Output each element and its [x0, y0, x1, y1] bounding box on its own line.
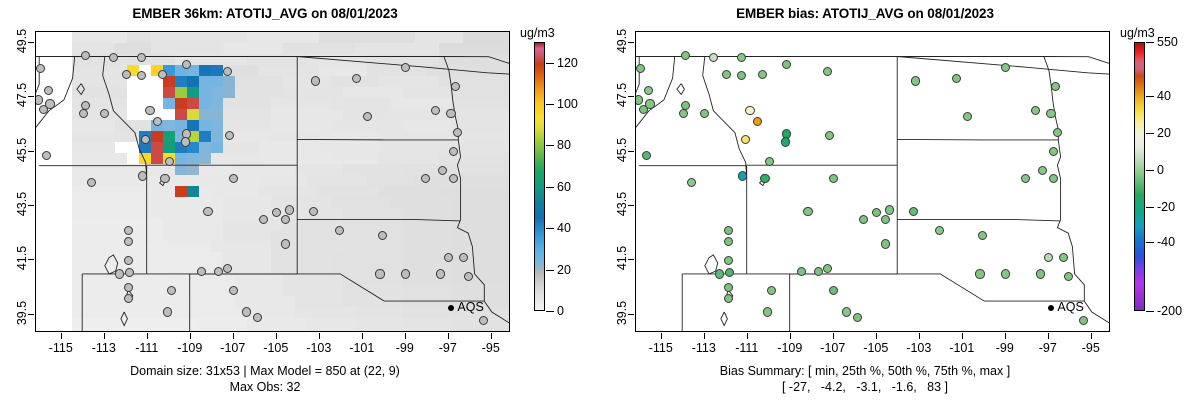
colorbar-tick-label: -40 [1157, 235, 1175, 249]
observation-site-marker[interactable] [767, 286, 776, 295]
y-axis-tick-label: 45.5 [592, 143, 652, 159]
observation-site-marker[interactable] [163, 307, 172, 316]
x-axis-tick-label: -101 [939, 341, 985, 355]
colorbar-tick [1146, 96, 1154, 97]
observation-site-marker[interactable] [797, 267, 806, 276]
observation-site-marker[interactable] [963, 112, 972, 121]
observation-site-marker[interactable] [375, 269, 384, 278]
panel-model-title: EMBER 36km: ATOTIJ_AVG on 08/01/2023 [0, 6, 530, 21]
colorbar-tick [1146, 42, 1154, 43]
x-axis-tick [147, 333, 148, 339]
observation-site-marker[interactable] [253, 313, 262, 322]
observation-site-marker[interactable] [1064, 272, 1073, 281]
bias-map-canvas: AQS [636, 32, 1109, 331]
observation-site-marker[interactable] [464, 272, 473, 281]
observation-site-marker[interactable] [1053, 128, 1062, 137]
x-axis-tick [233, 333, 234, 339]
colorbar-tick [546, 187, 554, 188]
observation-site-marker[interactable] [881, 215, 890, 224]
x-axis-tick-label: -103 [896, 341, 942, 355]
x-axis-tick [405, 333, 406, 339]
y-axis-tick-label: 47.5 [0, 88, 52, 104]
x-axis-tick [190, 333, 191, 339]
colorbar-tick-label: 20 [557, 263, 571, 277]
observation-site-marker[interactable] [138, 171, 147, 180]
x-axis-tick-label: -113 [81, 341, 127, 355]
observation-site-marker[interactable] [853, 313, 862, 322]
x-axis-tick-label: -111 [724, 341, 770, 355]
colorbar-tick-label: 60 [557, 180, 571, 194]
observation-site-marker[interactable] [225, 131, 234, 140]
panel-model-plot-frame: AQS [35, 31, 510, 332]
observation-site-marker[interactable] [167, 286, 176, 295]
bias-caption-line2: [ -27, -4.2, -3.1, -1.6, 83 ] [600, 380, 1130, 394]
observation-site-marker[interactable] [449, 174, 458, 183]
observation-site-marker[interactable] [401, 269, 410, 278]
observation-site-marker[interactable] [814, 267, 823, 276]
observation-site-marker[interactable] [124, 283, 133, 292]
observation-site-marker[interactable] [911, 76, 920, 85]
observation-site-marker[interactable] [352, 74, 361, 83]
x-axis-tick-label: -113 [681, 341, 727, 355]
x-axis-tick-label: -115 [638, 341, 684, 355]
observation-site-marker[interactable] [935, 226, 944, 235]
x-axis-tick [1091, 333, 1092, 339]
observation-site-marker[interactable] [281, 239, 290, 248]
figure-root: EMBER 36km: ATOTIJ_AVG on 08/01/2023 AQS… [0, 0, 1200, 409]
colorbar-tick-label: -200 [1157, 304, 1182, 318]
observation-site-marker[interactable] [223, 67, 232, 76]
aqs-legend-dot [448, 305, 454, 311]
observation-site-marker[interactable] [681, 101, 690, 110]
observation-site-marker[interactable] [115, 269, 124, 278]
y-axis-tick-label: 49.5 [592, 34, 652, 50]
observation-site-marker[interactable] [124, 294, 133, 303]
observation-site-marker[interactable] [724, 283, 733, 292]
x-axis-tick-label: -105 [853, 341, 899, 355]
observation-site-marker[interactable] [1051, 82, 1060, 91]
x-axis-tick-label: -105 [253, 341, 299, 355]
observation-site-marker[interactable] [145, 106, 154, 115]
observation-site-marker[interactable] [335, 226, 344, 235]
colorbar-tick [1146, 311, 1154, 312]
colorbar-tick-label: 20 [1157, 126, 1171, 140]
observation-site-marker[interactable] [242, 307, 251, 316]
x-axis-tick-label: -99 [382, 341, 428, 355]
observation-site-marker[interactable] [885, 205, 894, 214]
observation-site-marker[interactable] [724, 294, 733, 303]
colorbar-tick-label: 0 [557, 304, 564, 318]
observation-site-marker[interactable] [825, 131, 834, 140]
colorbar-tick-label: -20 [1157, 200, 1175, 214]
observation-site-marker[interactable] [197, 267, 206, 276]
observation-site-marker[interactable] [421, 174, 430, 183]
state-borders [636, 32, 1109, 331]
x-axis-tick-label: -95 [1068, 341, 1114, 355]
y-axis-tick-label: 39.5 [592, 306, 652, 322]
observation-site-marker[interactable] [763, 307, 772, 316]
observation-site-marker[interactable] [781, 137, 790, 146]
bias-caption-line1: Bias Summary: [ min, 25th %, 50th %, 75t… [600, 364, 1130, 378]
x-axis-tick [61, 333, 62, 339]
observation-site-marker[interactable] [479, 316, 488, 325]
observation-site-marker[interactable] [446, 109, 455, 118]
x-axis-tick-label: -107 [810, 341, 856, 355]
bias-colorbar-unit: ug/m3 [1120, 26, 1155, 40]
colorbar-tick [1146, 207, 1154, 208]
observation-site-marker[interactable] [285, 205, 294, 214]
colorbar-tick-label: 40 [1157, 89, 1171, 103]
colorbar-tick [1146, 133, 1154, 134]
observation-site-marker[interactable] [681, 51, 690, 60]
x-axis-tick-label: -115 [38, 341, 84, 355]
observation-site-marker[interactable] [79, 109, 88, 118]
observation-site-marker[interactable] [765, 157, 774, 166]
x-axis-tick-label: -97 [425, 341, 471, 355]
observation-site-marker[interactable] [449, 147, 458, 156]
observation-site-marker[interactable] [203, 207, 212, 216]
aqs-legend-label: AQS [1057, 300, 1083, 314]
model-colorbar-unit: ug/m3 [520, 26, 555, 40]
observation-site-marker[interactable] [737, 71, 746, 80]
x-axis-tick [319, 333, 320, 339]
observation-site-marker[interactable] [975, 269, 984, 278]
observation-site-marker[interactable] [1049, 147, 1058, 156]
state-borders [36, 32, 509, 331]
observation-site-marker[interactable] [137, 71, 146, 80]
x-axis-tick-label: -103 [296, 341, 342, 355]
y-axis-tick-label: 41.5 [592, 251, 652, 267]
model-caption-line1: Domain size: 31x53 | Max Model = 850 at … [0, 364, 530, 378]
observation-site-marker[interactable] [724, 256, 733, 265]
observation-site-marker[interactable] [823, 67, 832, 76]
x-axis-tick-label: -101 [339, 341, 385, 355]
observation-site-marker[interactable] [881, 239, 890, 248]
observation-site-marker[interactable] [909, 207, 918, 216]
observation-site-marker[interactable] [124, 226, 133, 235]
colorbar-tick-label: 100 [557, 97, 578, 111]
colorbar-tick-label: 550 [1157, 35, 1178, 49]
x-axis-tick-label: -95 [468, 341, 514, 355]
observation-site-marker[interactable] [309, 207, 318, 216]
x-axis-tick [104, 333, 105, 339]
observation-site-marker[interactable] [724, 226, 733, 235]
observation-site-marker[interactable] [363, 112, 372, 121]
observation-site-marker[interactable] [122, 70, 131, 79]
colorbar-tick [546, 145, 554, 146]
observation-site-marker[interactable] [952, 74, 961, 83]
observation-site-marker[interactable] [281, 215, 290, 224]
x-axis-tick [790, 333, 791, 339]
x-axis-tick [448, 333, 449, 339]
x-axis-tick-label: -111 [124, 341, 170, 355]
x-axis-tick [876, 333, 877, 339]
x-axis-tick [919, 333, 920, 339]
panel-bias-title: EMBER bias: ATOTIJ_AVG on 08/01/2023 [600, 6, 1130, 21]
x-axis-tick-label: -109 [167, 341, 213, 355]
aqs-legend-dot [1048, 305, 1054, 311]
x-axis-tick-label: -107 [210, 341, 256, 355]
colorbar-tick-label: 80 [557, 138, 571, 152]
y-axis-tick-label: 39.5 [0, 306, 52, 322]
y-axis-tick-label: 47.5 [592, 88, 652, 104]
observation-site-marker[interactable] [760, 174, 769, 183]
observation-site-marker[interactable] [160, 174, 169, 183]
colorbar-tick-label: 40 [557, 221, 571, 235]
observation-site-marker[interactable] [715, 269, 724, 278]
observation-site-marker[interactable] [724, 237, 733, 246]
observation-site-marker[interactable] [436, 269, 445, 278]
x-axis-tick [962, 333, 963, 339]
observation-site-marker[interactable] [451, 82, 460, 91]
observation-site-marker[interactable] [453, 128, 462, 137]
colorbar-tick [546, 311, 554, 312]
x-axis-tick [747, 333, 748, 339]
x-axis-tick-label: -109 [767, 341, 813, 355]
observation-site-marker[interactable] [745, 106, 754, 115]
colorbar-tick [546, 270, 554, 271]
colorbar-tick [1146, 242, 1154, 243]
colorbar-tick-label: 0 [1157, 163, 1164, 177]
model-caption-line2: Max Obs: 32 [0, 380, 530, 394]
panel-model: EMBER 36km: ATOTIJ_AVG on 08/01/2023 AQS… [0, 0, 600, 409]
observation-site-marker[interactable] [311, 76, 320, 85]
x-axis-tick-label: -99 [982, 341, 1028, 355]
observation-site-marker[interactable] [842, 307, 851, 316]
x-axis-tick [833, 333, 834, 339]
observation-site-marker[interactable] [679, 109, 688, 118]
observation-site-marker[interactable] [823, 264, 832, 273]
y-axis-tick-label: 49.5 [0, 34, 52, 50]
y-axis-tick-label: 45.5 [0, 143, 52, 159]
observation-site-marker[interactable] [1046, 109, 1055, 118]
observation-site-marker[interactable] [223, 264, 232, 273]
x-axis-tick [1048, 333, 1049, 339]
observation-site-marker[interactable] [181, 137, 190, 146]
x-axis-tick [362, 333, 363, 339]
aqs-legend-label: AQS [457, 300, 483, 314]
x-axis-tick [1005, 333, 1006, 339]
observation-site-marker[interactable] [1021, 174, 1030, 183]
observation-site-marker[interactable] [1001, 269, 1010, 278]
observation-site-marker[interactable] [1079, 316, 1088, 325]
model-colorbar[interactable] [534, 42, 545, 311]
observation-site-marker[interactable] [803, 207, 812, 216]
model-map-canvas: AQS [36, 32, 509, 331]
colorbar-tick [546, 228, 554, 229]
y-axis-tick-label: 43.5 [0, 197, 52, 213]
x-axis-tick [491, 333, 492, 339]
colorbar-tick-label: 120 [557, 56, 578, 70]
panel-bias: EMBER bias: ATOTIJ_AVG on 08/01/2023 AQS… [600, 0, 1200, 409]
observation-site-marker[interactable] [214, 267, 223, 276]
panel-bias-plot-frame: AQS [635, 31, 1110, 332]
observation-site-marker[interactable] [1049, 174, 1058, 183]
x-axis-tick [276, 333, 277, 339]
colorbar-tick [546, 63, 554, 64]
y-axis-tick-label: 43.5 [592, 197, 652, 213]
colorbar-tick [546, 104, 554, 105]
observation-site-marker[interactable] [124, 256, 133, 265]
x-axis-tick [661, 333, 662, 339]
x-axis-tick-label: -97 [1025, 341, 1071, 355]
x-axis-tick [704, 333, 705, 339]
colorbar-tick [1146, 170, 1154, 171]
observation-site-marker[interactable] [738, 171, 747, 180]
observation-site-marker[interactable] [722, 70, 731, 79]
y-axis-tick-label: 41.5 [0, 251, 52, 267]
observation-site-marker[interactable] [81, 51, 90, 60]
observation-site-marker[interactable] [81, 101, 90, 110]
observation-site-marker[interactable] [165, 157, 174, 166]
observation-site-marker[interactable] [1036, 269, 1045, 278]
bias-colorbar[interactable] [1134, 42, 1145, 311]
observation-site-marker[interactable] [124, 237, 133, 246]
